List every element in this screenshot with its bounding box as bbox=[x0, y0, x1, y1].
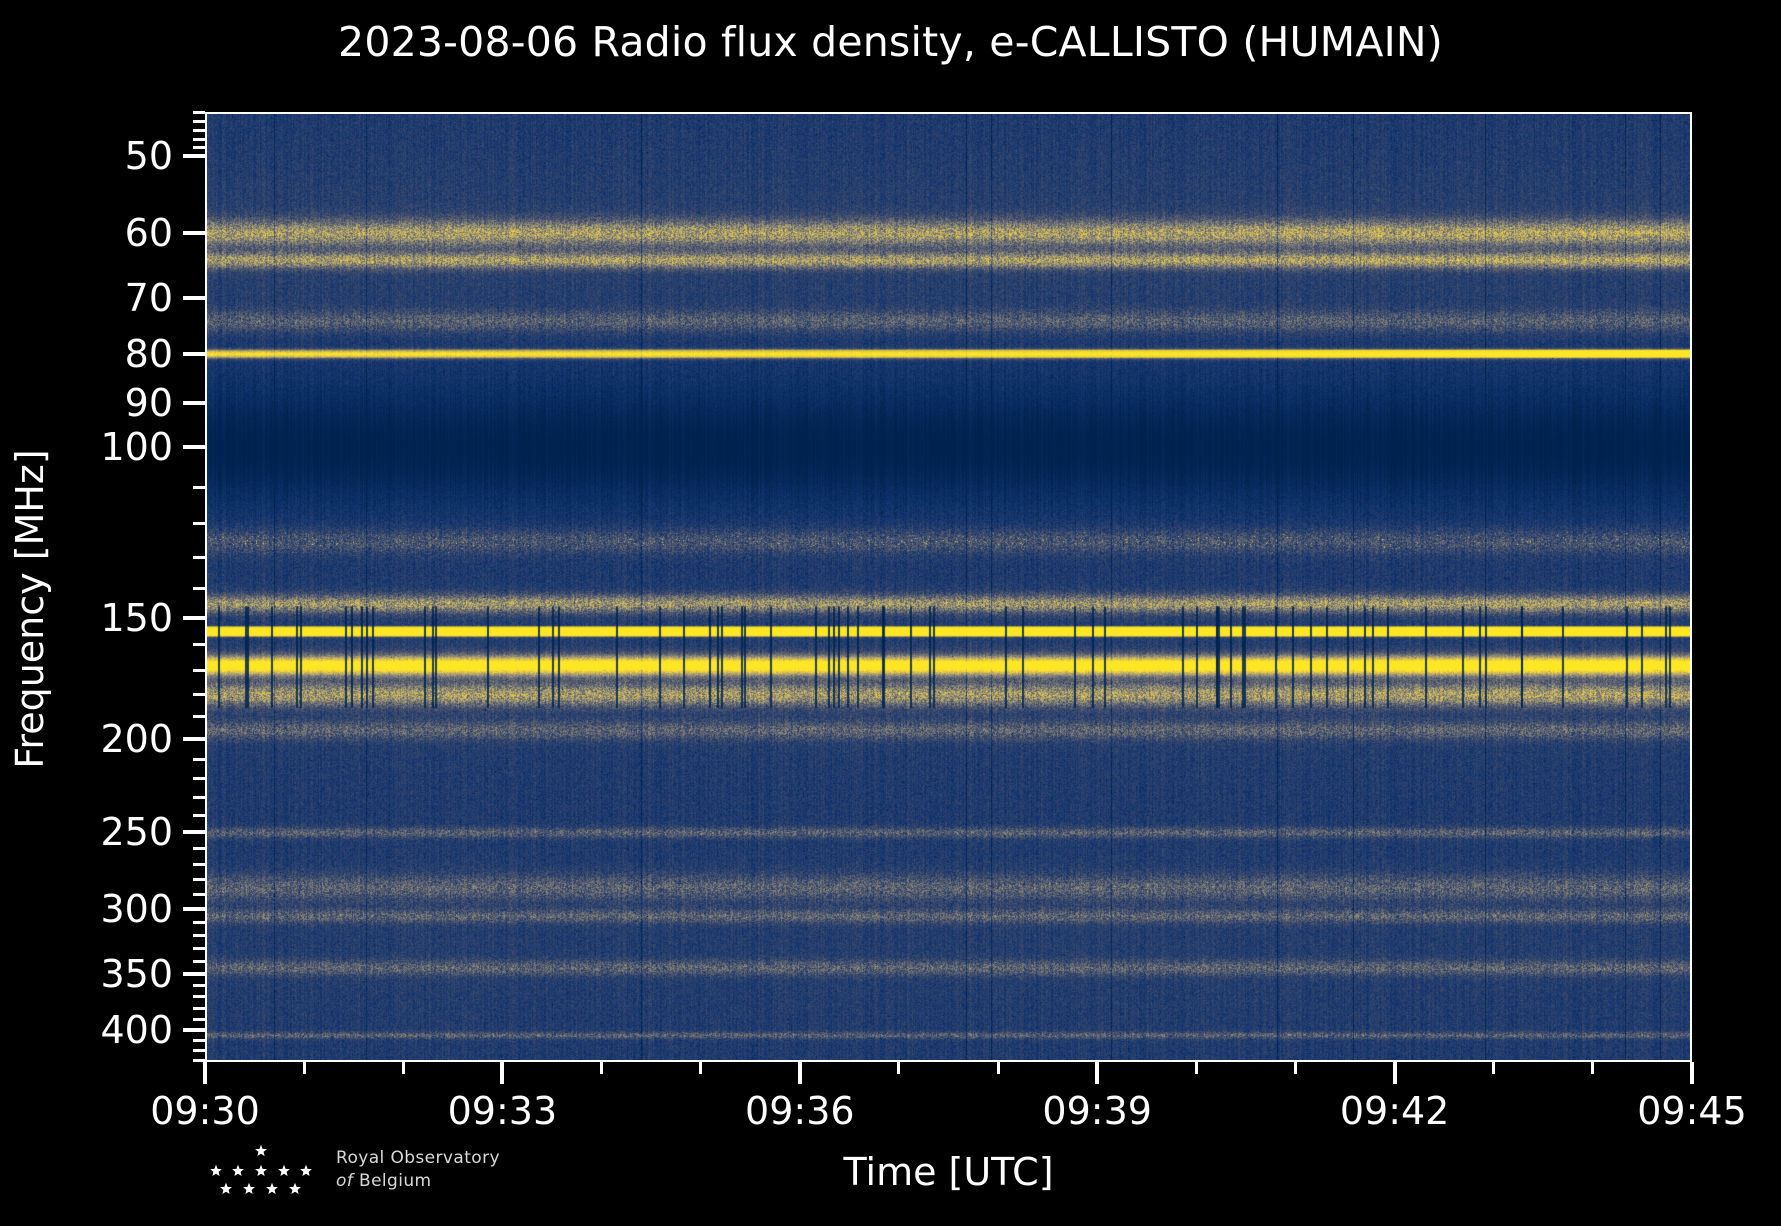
royal-observatory-logo: Royal Observatory of Belgium bbox=[196, 1143, 626, 1213]
y-minor-tick-mark bbox=[193, 1039, 205, 1042]
x-minor-tick-mark bbox=[1294, 1062, 1297, 1074]
star-icon bbox=[220, 1183, 232, 1194]
y-minor-tick-mark bbox=[193, 947, 205, 950]
y-minor-tick-mark bbox=[193, 129, 205, 132]
logo-of-word: of bbox=[336, 1171, 353, 1191]
y-minor-tick-mark bbox=[193, 777, 205, 780]
y-minor-tick-mark bbox=[193, 556, 205, 559]
y-tick-label: 350 bbox=[100, 955, 173, 993]
logo-line-2: of Belgium bbox=[336, 1170, 500, 1193]
x-tick-mark bbox=[798, 1062, 802, 1084]
y-axis-label: Frequency [MHz] bbox=[8, 289, 52, 929]
x-minor-tick-mark bbox=[997, 1062, 1000, 1074]
y-tick-mark bbox=[183, 401, 205, 405]
y-tick-mark bbox=[183, 1028, 205, 1032]
logo-line-1: Royal Observatory bbox=[336, 1147, 500, 1170]
star-icon bbox=[243, 1183, 255, 1194]
y-minor-tick-mark bbox=[193, 1018, 205, 1021]
y-minor-tick-mark bbox=[193, 847, 205, 850]
y-minor-tick-mark bbox=[193, 643, 205, 646]
x-minor-tick-mark bbox=[402, 1062, 405, 1074]
x-tick-label: 09:42 bbox=[1340, 1092, 1450, 1130]
y-tick-label: 150 bbox=[100, 599, 173, 637]
y-minor-tick-mark bbox=[193, 878, 205, 881]
x-tick-mark bbox=[1690, 1062, 1694, 1084]
y-tick-mark bbox=[183, 830, 205, 834]
y-tick-label: 200 bbox=[100, 720, 173, 758]
y-tick-label: 300 bbox=[100, 890, 173, 928]
y-tick-mark bbox=[183, 154, 205, 158]
y-minor-tick-mark bbox=[193, 984, 205, 987]
y-tick-label: 60 bbox=[125, 214, 173, 252]
x-tick-mark bbox=[500, 1062, 504, 1084]
y-tick-mark bbox=[183, 296, 205, 300]
y-tick-label: 80 bbox=[125, 335, 173, 373]
y-minor-tick-mark bbox=[193, 995, 205, 998]
y-minor-tick-mark bbox=[193, 814, 205, 817]
y-tick-mark bbox=[183, 231, 205, 235]
star-icon bbox=[255, 1145, 267, 1156]
y-tick-label: 250 bbox=[100, 813, 173, 851]
x-minor-tick-mark bbox=[1492, 1062, 1495, 1074]
y-tick-mark bbox=[183, 352, 205, 356]
x-axis: 09:3009:3309:3609:3909:4209:45 bbox=[205, 1062, 1692, 1063]
y-minor-tick-mark bbox=[193, 669, 205, 672]
y-minor-tick-mark bbox=[193, 111, 205, 114]
y-minor-tick-mark bbox=[193, 138, 205, 141]
y-tick-mark bbox=[183, 972, 205, 976]
y-minor-tick-mark bbox=[193, 715, 205, 718]
y-minor-tick-mark bbox=[193, 522, 205, 525]
star-icon bbox=[255, 1165, 267, 1176]
x-tick-mark bbox=[1095, 1062, 1099, 1084]
star-icon bbox=[278, 1165, 290, 1176]
eu-stars-icon bbox=[196, 1143, 326, 1205]
y-tick-mark bbox=[183, 616, 205, 620]
x-minor-tick-mark bbox=[699, 1062, 702, 1074]
y-minor-tick-mark bbox=[193, 893, 205, 896]
star-icon bbox=[289, 1183, 301, 1194]
y-tick-mark bbox=[183, 907, 205, 911]
y-minor-tick-mark bbox=[193, 120, 205, 123]
x-minor-tick-mark bbox=[600, 1062, 603, 1074]
x-minor-tick-mark bbox=[897, 1062, 900, 1074]
y-minor-tick-mark bbox=[193, 960, 205, 963]
x-tick-mark bbox=[1393, 1062, 1397, 1084]
y-tick-label: 100 bbox=[100, 428, 173, 466]
star-icon bbox=[232, 1165, 244, 1176]
y-minor-tick-mark bbox=[193, 934, 205, 937]
x-minor-tick-mark bbox=[303, 1062, 306, 1074]
x-minor-tick-mark bbox=[1591, 1062, 1594, 1074]
y-minor-tick-mark bbox=[193, 486, 205, 489]
spectrogram-plot bbox=[205, 112, 1692, 1062]
page-title: 2023-08-06 Radio flux density, e-CALLIST… bbox=[0, 18, 1781, 66]
y-tick-label: 90 bbox=[125, 384, 173, 422]
y-minor-tick-mark bbox=[193, 1049, 205, 1052]
y-minor-tick-mark bbox=[193, 587, 205, 590]
spectrogram-canvas bbox=[205, 112, 1692, 1062]
spectrogram-figure: 2023-08-06 Radio flux density, e-CALLIST… bbox=[0, 0, 1781, 1226]
x-tick-label: 09:39 bbox=[1042, 1092, 1152, 1130]
star-icon bbox=[266, 1183, 278, 1194]
logo-text: Royal Observatory of Belgium bbox=[336, 1147, 500, 1193]
y-minor-tick-mark bbox=[193, 796, 205, 799]
y-minor-tick-mark bbox=[193, 921, 205, 924]
y-minor-tick-mark bbox=[193, 758, 205, 761]
star-icon bbox=[300, 1165, 312, 1176]
x-tick-label: 09:33 bbox=[448, 1092, 558, 1130]
y-tick-mark bbox=[183, 445, 205, 449]
y-tick-mark bbox=[183, 737, 205, 741]
y-tick-label: 400 bbox=[100, 1011, 173, 1049]
logo-country: Belgium bbox=[359, 1171, 432, 1191]
x-tick-label: 09:36 bbox=[745, 1092, 855, 1130]
x-tick-mark bbox=[203, 1062, 207, 1084]
y-minor-tick-mark bbox=[193, 1007, 205, 1010]
star-icon bbox=[210, 1165, 222, 1176]
x-tick-label: 09:45 bbox=[1637, 1092, 1747, 1130]
y-tick-label: 70 bbox=[125, 279, 173, 317]
y-minor-tick-mark bbox=[193, 693, 205, 696]
y-minor-tick-mark bbox=[193, 146, 205, 149]
y-minor-tick-mark bbox=[193, 863, 205, 866]
x-tick-label: 09:30 bbox=[150, 1092, 260, 1130]
x-minor-tick-mark bbox=[1195, 1062, 1198, 1074]
y-tick-label: 50 bbox=[125, 137, 173, 175]
